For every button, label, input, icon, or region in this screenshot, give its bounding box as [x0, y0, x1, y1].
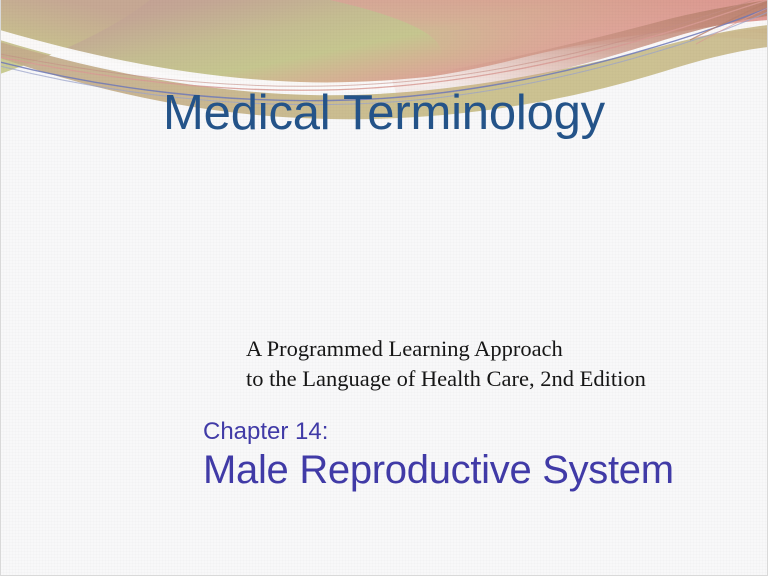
chapter-title: Male Reproductive System: [203, 448, 674, 492]
book-subtitle-line-1: A Programmed Learning Approach: [246, 334, 766, 364]
book-subtitle: A Programmed Learning Approach to the La…: [246, 334, 766, 394]
book-subtitle-line-2: to the Language of Health Care, 2nd Edit…: [246, 364, 766, 394]
presentation-slide: Medical Terminology A Programmed Learnin…: [0, 0, 768, 576]
page-title: Medical Terminology: [0, 88, 768, 139]
chapter-number: Chapter 14:: [203, 419, 328, 445]
